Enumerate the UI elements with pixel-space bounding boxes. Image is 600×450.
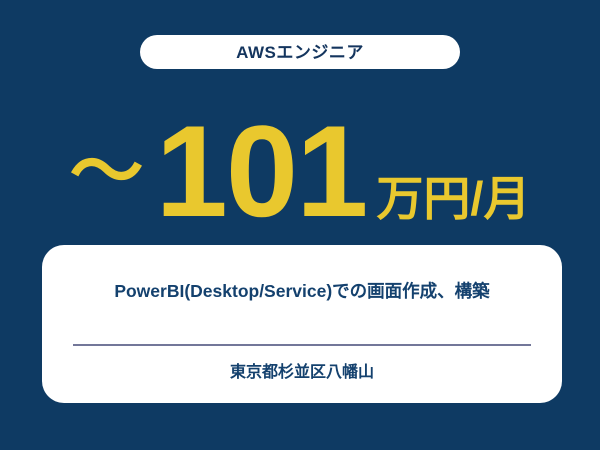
- role-badge: AWSエンジニア: [140, 35, 460, 69]
- job-title: PowerBI(Desktop/Service)での画面作成、構築: [42, 281, 562, 302]
- price-prefix-tilde: 〜: [70, 135, 142, 209]
- job-location: 東京都杉並区八幡山: [42, 363, 562, 382]
- card-divider: [73, 344, 531, 346]
- role-badge-label: AWSエンジニア: [236, 44, 364, 61]
- price-unit: 万円/月: [376, 175, 530, 222]
- job-info-card: PowerBI(Desktop/Service)での画面作成、構築 東京都杉並区…: [42, 245, 562, 403]
- price-display: 〜 101 万円/月: [0, 110, 600, 225]
- price-amount: 101: [156, 118, 367, 225]
- job-poster: AWSエンジニア 〜 101 万円/月 PowerBI(Desktop/Serv…: [0, 0, 600, 450]
